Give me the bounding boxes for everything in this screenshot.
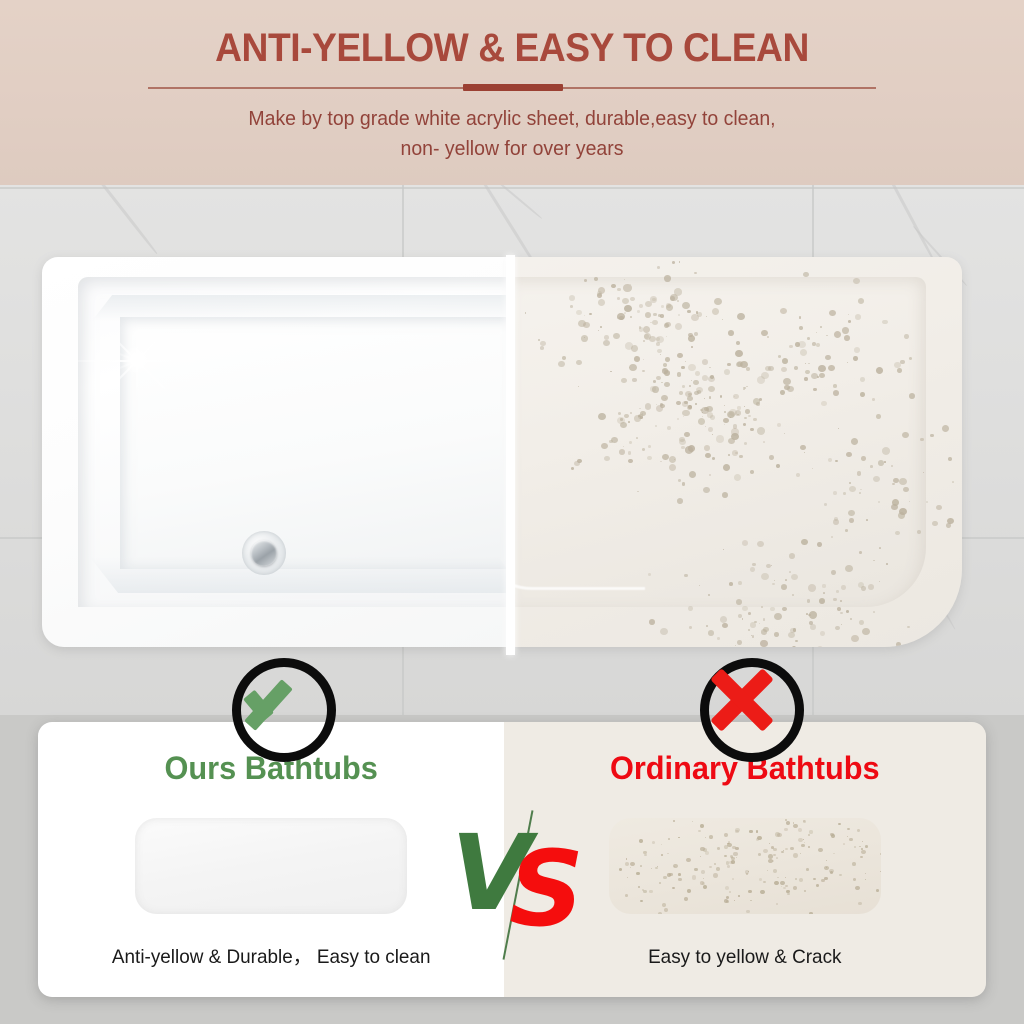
tub-bevel-top (92, 295, 522, 321)
page-title: ANTI-YELLOW & EASY TO CLEAN (36, 26, 988, 71)
title-divider (148, 86, 876, 89)
cross-circle-icon (700, 658, 804, 762)
comparison-card: Ours Bathtubs Anti-yellow & Durable， Eas… (38, 722, 986, 997)
caption-ours: Anti-yellow & Durable， Easy to clean (45, 940, 497, 969)
tub-basin (120, 317, 512, 569)
subtitle: Make by top grade white acrylic sheet, d… (26, 104, 999, 164)
subtitle-line-1: Make by top grade white acrylic sheet, d… (26, 104, 999, 134)
bathtub (42, 257, 962, 647)
drain-cap (251, 540, 277, 566)
panel-ordinary: Ordinary Bathtubs Easy to yellow & Crack (504, 722, 986, 997)
drain-icon (242, 531, 286, 575)
tub-bevel-bottom (90, 557, 526, 593)
tub-inner-contour (512, 467, 645, 590)
stained-bathtub-half (512, 257, 962, 647)
clean-bathtub-half (42, 257, 512, 647)
swatch-ours (135, 818, 407, 914)
split-divider-line (506, 255, 515, 655)
caption-ordinary: Easy to yellow & Crack (512, 946, 979, 969)
product-infographic: ANTI-YELLOW & EASY TO CLEAN Make by top … (0, 0, 1024, 1024)
swatch-ordinary (609, 818, 881, 914)
check-circle-icon (232, 658, 336, 762)
subtitle-line-2: non- yellow for over years (26, 134, 999, 164)
comparison-photo (0, 185, 1024, 715)
panel-ours: Ours Bathtubs Anti-yellow & Durable， Eas… (38, 722, 504, 997)
header-band: ANTI-YELLOW & EASY TO CLEAN Make by top … (0, 0, 1024, 185)
divider-center-nub (463, 84, 563, 91)
